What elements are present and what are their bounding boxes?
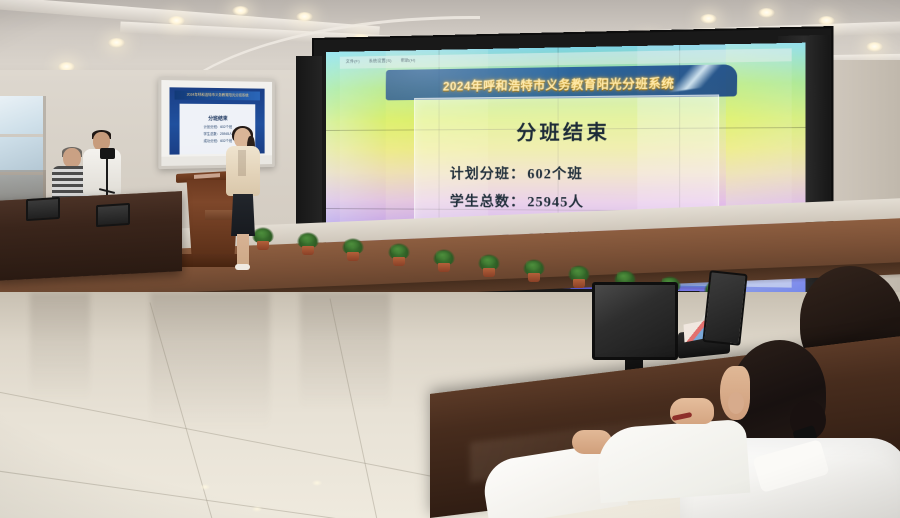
- potted-plant: [478, 253, 500, 277]
- potted-plant: [297, 231, 319, 255]
- seated-observer-head: [63, 148, 81, 168]
- menu-item-help[interactable]: 帮助(H): [401, 57, 416, 65]
- potted-plant: [342, 237, 364, 261]
- floor-light-spot: [200, 484, 210, 490]
- plant-pot: [347, 252, 359, 261]
- viewer-front-arm: [596, 419, 751, 503]
- potted-plant: [433, 248, 455, 272]
- downlight-icon: [758, 8, 775, 18]
- downlight-icon: [700, 14, 717, 24]
- floor-light-spot: [312, 480, 322, 486]
- viewer-front-ear: [728, 392, 744, 414]
- left-desk-monitor[interactable]: [96, 203, 130, 227]
- potted-plant: [523, 258, 545, 282]
- plant-pot: [483, 268, 495, 277]
- downlight-icon: [296, 12, 313, 22]
- left-desk-monitor[interactable]: [26, 197, 60, 221]
- stat-value: 602个班: [527, 162, 583, 183]
- plant-pot: [573, 279, 585, 288]
- presenter: [222, 128, 266, 276]
- downlight-icon: [866, 42, 883, 52]
- floor-reflection: [150, 292, 270, 432]
- downlight-icon: [168, 16, 185, 26]
- downlight-icon: [818, 16, 835, 26]
- menu-item-file[interactable]: 文件(F): [346, 58, 360, 66]
- stat-row-planned: 计划分班： 602个班: [450, 162, 718, 183]
- whiteboard-result-title: 分班结束: [208, 115, 227, 122]
- result-title: 分班结束: [415, 116, 718, 146]
- photo-scene: 2024年呼和浩特市义务教育阳光分班系统 分班结束 计划分班：602个班 学生总…: [0, 0, 900, 518]
- presenter-blouse: [226, 146, 260, 196]
- potted-plant: [568, 264, 590, 288]
- monitor-screen: [592, 282, 678, 360]
- menu-item-settings[interactable]: 系统设置(S): [369, 58, 392, 66]
- presenter-legs: [237, 234, 249, 266]
- plant-pot: [528, 273, 540, 282]
- whiteboard-banner-title: 2024年呼和浩特市义务教育阳光分班系统: [187, 93, 249, 99]
- floor-reflection: [300, 292, 390, 412]
- whiteboard-banner: 2024年呼和浩特市义务教育阳光分班系统: [175, 90, 260, 100]
- window-mullion: [0, 134, 43, 137]
- presenter-shoes: [235, 264, 250, 270]
- plant-pot: [393, 257, 405, 266]
- plant-pot: [302, 246, 314, 255]
- plant-pot: [438, 263, 450, 272]
- potted-plant: [388, 242, 410, 266]
- downlight-icon: [108, 38, 125, 48]
- stat-label: 计划分班：: [450, 162, 525, 183]
- stat-value: 25945人: [527, 190, 584, 211]
- downlight-icon: [232, 6, 249, 16]
- stat-label: 学生总数：: [450, 189, 525, 210]
- floor-reflection: [30, 292, 90, 402]
- presenter-skirt: [230, 194, 256, 236]
- floor-light-spot: [252, 506, 262, 512]
